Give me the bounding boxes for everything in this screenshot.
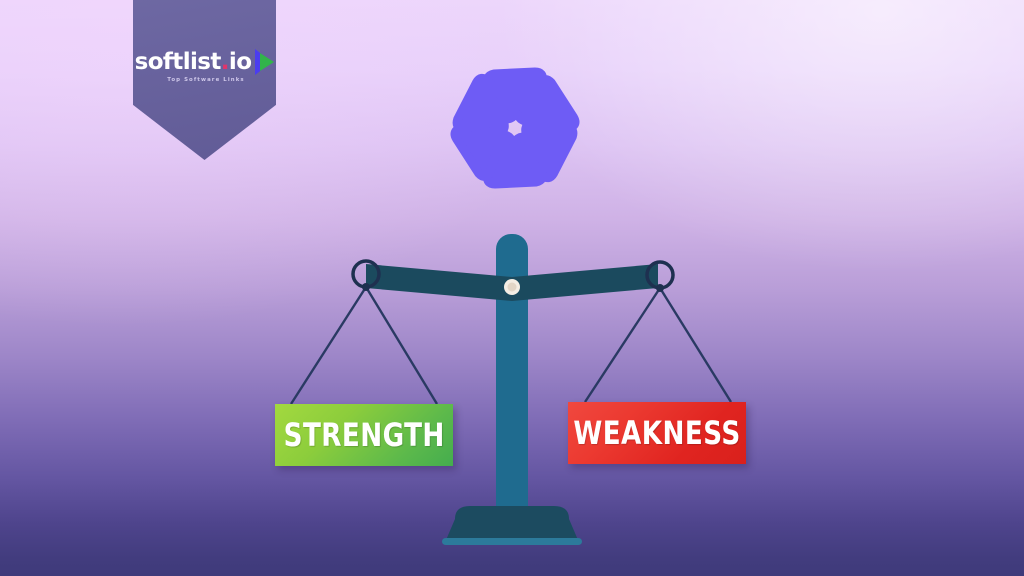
left-string-knot [362,283,370,291]
plaque-strength-label: STRENGTH [283,419,444,451]
plaque-strength[interactable]: STRENGTH [275,404,453,466]
scale-base-strip [442,538,582,545]
plaque-weakness-label: WEAKNESS [573,417,740,449]
right-string-knot [656,284,664,292]
scale-base [446,506,578,540]
plaque-weakness[interactable]: WEAKNESS [568,402,746,464]
left-string-outer [291,287,366,404]
scale-pivot-dot-inner [508,283,517,292]
balance-scale [0,0,1024,576]
left-string-inner [366,287,437,404]
slide-canvas: softlist.io Top Software Links [0,0,1024,576]
right-string-outer [585,288,660,402]
right-string-inner [660,288,731,402]
